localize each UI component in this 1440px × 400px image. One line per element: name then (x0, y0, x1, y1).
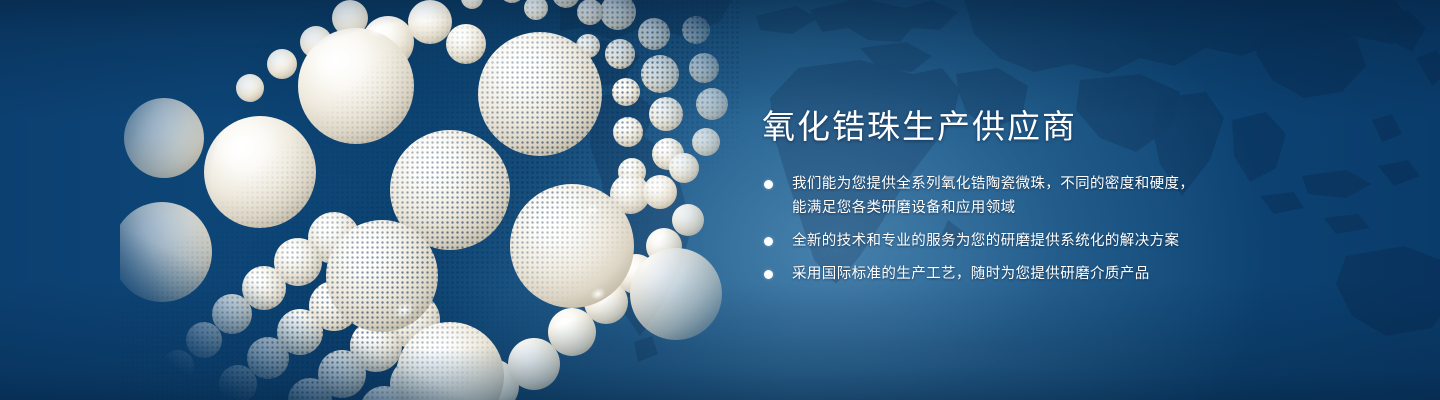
banner-content: 氧化锆珠生产供应商 我们能为您提供全系列氧化锆陶瓷微珠，不同的密度和硬度， 能满… (762, 106, 1282, 286)
feature-item-1-line-1: 我们能为您提供全系列氧化锆陶瓷微珠，不同的密度和硬度， (792, 172, 1282, 196)
feature-item-2: 全新的技术和专业的服务为您的研磨提供系统化的解决方案 (762, 229, 1282, 253)
feature-item-3: 采用国际标准的生产工艺，随时为您提供研磨介质产品 (762, 262, 1282, 286)
bullet-dot-icon (764, 180, 773, 189)
feature-item-2-line-1: 全新的技术和专业的服务为您的研磨提供系统化的解决方案 (792, 229, 1282, 253)
banner-headline: 氧化锆珠生产供应商 (762, 106, 1282, 148)
feature-item-3-line-1: 采用国际标准的生产工艺，随时为您提供研磨介质产品 (792, 262, 1282, 286)
feature-list: 我们能为您提供全系列氧化锆陶瓷微珠，不同的密度和硬度， 能满足您各类研磨设备和应… (762, 172, 1282, 286)
zirconia-beads-photo (120, 0, 740, 400)
bullet-dot-icon (764, 270, 773, 279)
bullet-dot-icon (764, 237, 773, 246)
feature-item-1-line-2: 能满足您各类研磨设备和应用领域 (792, 196, 1282, 220)
feature-item-1: 我们能为您提供全系列氧化锆陶瓷微珠，不同的密度和硬度， 能满足您各类研磨设备和应… (762, 172, 1282, 220)
hero-banner: 氧化锆珠生产供应商 我们能为您提供全系列氧化锆陶瓷微珠，不同的密度和硬度， 能满… (0, 0, 1440, 400)
